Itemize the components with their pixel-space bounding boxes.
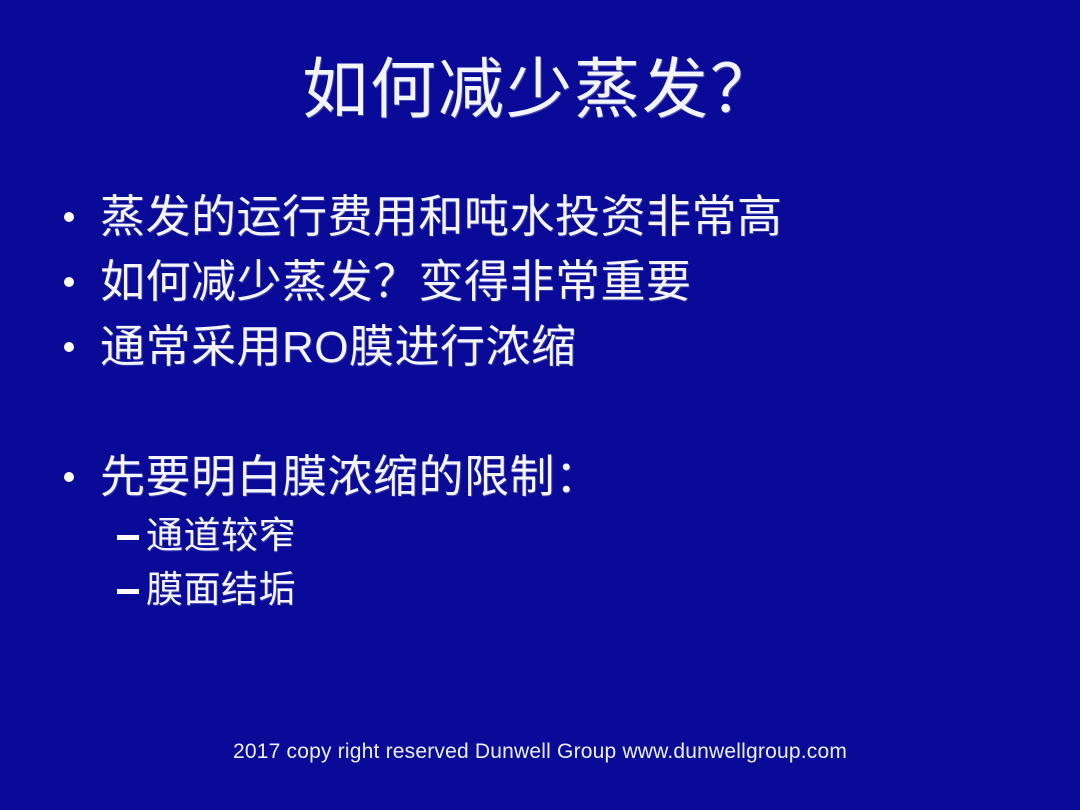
bullet-item-2-label: 如何减少蒸发？变得非常重要: [100, 253, 1036, 311]
bullet-item-2: 如何减少蒸发？变得非常重要: [56, 253, 1036, 318]
bullet-dot-icon: [56, 318, 100, 376]
sub-bullet-item-2-label: 膜面结垢: [146, 567, 1036, 615]
bullet-list: 蒸发的运行费用和吨水投资非常高 如何减少蒸发？变得非常重要 通常采用RO膜进行浓…: [56, 188, 1036, 621]
sub-bullet-item-1: 通道较窄: [56, 513, 1036, 567]
bullet-item-3-label-part-1: 通常采用: [100, 322, 282, 372]
bullet-list-spacer: [56, 383, 1036, 448]
slide-title: 如何减少蒸发？: [0, 52, 1080, 130]
dash-icon: [108, 567, 146, 615]
dash-icon: [108, 513, 146, 561]
bullet-item-4: 先要明白膜浓缩的限制：: [56, 448, 1036, 513]
bullet-dot-icon: [56, 448, 100, 506]
bullet-item-1: 蒸发的运行费用和吨水投资非常高: [56, 188, 1036, 253]
bullet-dot-icon: [56, 253, 100, 311]
copyright-footer: 2017 copy right reserved Dunwell Group w…: [0, 739, 1080, 765]
bullet-item-3-label: 通常采用RO膜进行浓缩: [100, 318, 1036, 377]
sub-bullet-item-1-label: 通道较窄: [146, 513, 1036, 561]
bullet-item-3-label-part-2: 膜进行浓缩: [349, 322, 577, 372]
bullet-item-3-label-acronym: RO: [282, 323, 349, 372]
bullet-item-3: 通常采用RO膜进行浓缩: [56, 318, 1036, 383]
bullet-dot-icon: [56, 188, 100, 246]
presentation-slide: 如何减少蒸发？ 蒸发的运行费用和吨水投资非常高 如何减少蒸发？变得非常重要 通常…: [0, 0, 1080, 810]
bullet-item-1-label: 蒸发的运行费用和吨水投资非常高: [100, 188, 1036, 246]
sub-bullet-item-2: 膜面结垢: [56, 567, 1036, 621]
bullet-item-4-label: 先要明白膜浓缩的限制：: [100, 448, 1036, 506]
